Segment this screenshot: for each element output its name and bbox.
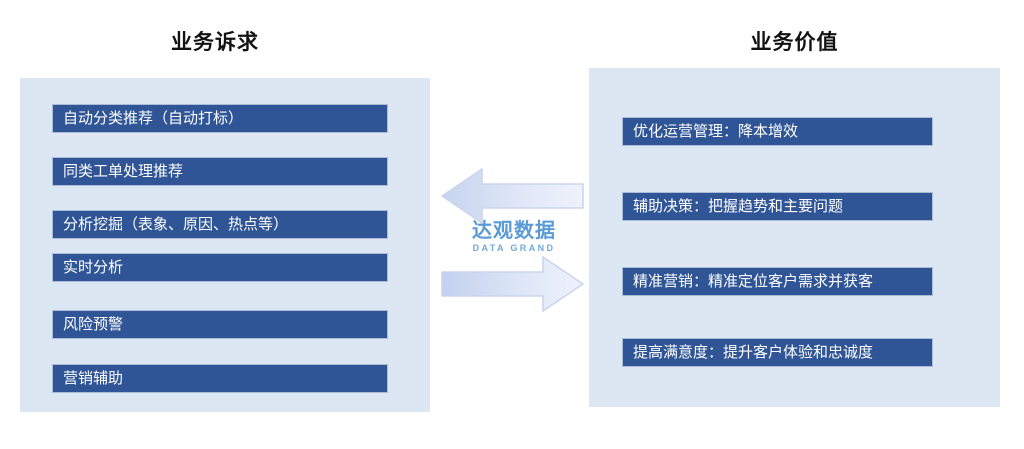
demand-item[interactable]: 同类工单处理推荐	[52, 157, 388, 186]
value-item[interactable]: 精准营销：精准定位客户需求并获客	[622, 267, 933, 296]
demand-item-label: 营销辅助	[53, 371, 123, 386]
demand-item[interactable]: 自动分类推荐（自动打标）	[52, 104, 388, 133]
value-item[interactable]: 优化运营管理：降本增效	[622, 117, 933, 146]
right-column-title: 业务价值	[589, 26, 1000, 56]
value-item-label: 优化运营管理：降本增效	[623, 124, 798, 139]
diagram-canvas: 业务诉求 自动分类推荐（自动打标） 同类工单处理推荐 分析挖掘（表象、原因、热点…	[0, 0, 1024, 449]
demand-item-label: 自动分类推荐（自动打标）	[53, 111, 243, 126]
demand-item-label: 风险预警	[53, 317, 123, 332]
demand-item[interactable]: 分析挖掘（表象、原因、热点等）	[52, 210, 388, 239]
value-item-label: 辅助决策：把握趋势和主要问题	[623, 199, 843, 214]
demand-item-label: 分析挖掘（表象、原因、热点等）	[53, 217, 288, 232]
demand-item[interactable]: 实时分析	[52, 253, 388, 282]
value-item[interactable]: 提高满意度：提升客户体验和忠诚度	[622, 338, 933, 367]
arrow-right-icon	[442, 257, 583, 311]
value-item-label: 精准营销：精准定位客户需求并获客	[623, 274, 873, 289]
arrow-left-icon	[442, 169, 583, 223]
demand-item[interactable]: 风险预警	[52, 310, 388, 339]
demand-item-label: 实时分析	[53, 260, 123, 275]
value-item-label: 提高满意度：提升客户体验和忠诚度	[623, 345, 873, 360]
left-column-title: 业务诉求	[0, 26, 430, 56]
value-item[interactable]: 辅助决策：把握趋势和主要问题	[622, 192, 933, 221]
bidirectional-arrow-group: 达观数据 DATA GRAND	[440, 165, 585, 315]
double-arrow-icon	[440, 165, 585, 315]
demand-item[interactable]: 营销辅助	[52, 364, 388, 393]
demand-item-label: 同类工单处理推荐	[53, 164, 183, 179]
